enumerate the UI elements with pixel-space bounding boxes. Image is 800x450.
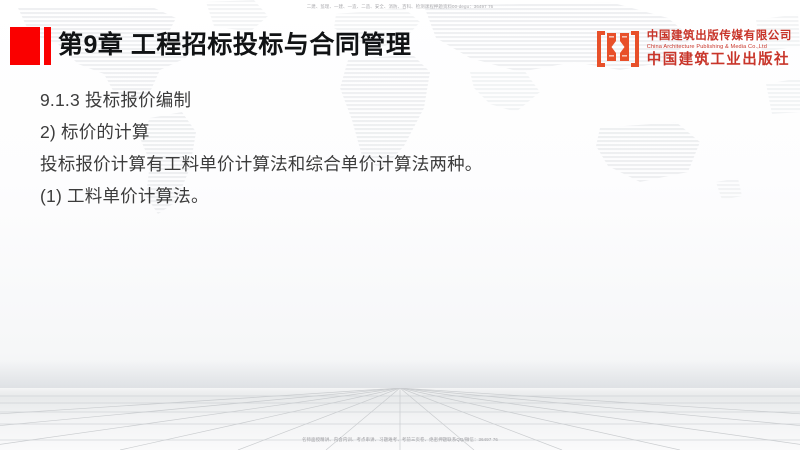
- body-line: 9.1.3 投标报价编制: [40, 84, 740, 116]
- body-line: (1) 工料单价计算法。: [40, 180, 740, 212]
- page-title: 第9章 工程招标投标与合同管理: [58, 25, 411, 65]
- body-line: 投标报价计算有工料单价计算法和综合单价计算法两种。: [40, 148, 740, 180]
- watermark-bottom: 名师面授精讲、内含内训、考点串讲、习题难考、考前三页卷、绝密押题联系QQ/微信：…: [0, 437, 800, 443]
- slide-body: 9.1.3 投标报价编制 2) 标价的计算 投标报价计算有工料单价计算法和综合单…: [40, 84, 740, 212]
- wall-floor-shadow: [0, 360, 800, 390]
- publisher-logo-text: 中国建筑出版传媒有限公司 China Architecture Publishi…: [647, 29, 792, 69]
- publisher-imprint-name: 中国建筑工业出版社: [647, 51, 792, 69]
- publisher-company-name-cn: 中国建筑出版传媒有限公司: [647, 29, 792, 43]
- slide-canvas: 二建、监理、一建、一造、二造、安全、消防、百科、检测课程押题资料00-degu：…: [0, 0, 800, 450]
- body-line: 2) 标价的计算: [40, 116, 740, 148]
- red-square-marker-icon: [10, 27, 40, 65]
- red-bar-marker-icon: [44, 27, 51, 65]
- watermark-top: 二建、监理、一建、一造、二造、安全、消防、百科、检测课程押题资料00-degu：…: [0, 4, 800, 10]
- open-book-publisher-logo-icon: [595, 27, 641, 71]
- publisher-logo: 中国建筑出版传媒有限公司 China Architecture Publishi…: [595, 26, 792, 72]
- publisher-company-name-en: China Architecture Publishing & Media Co…: [647, 43, 792, 51]
